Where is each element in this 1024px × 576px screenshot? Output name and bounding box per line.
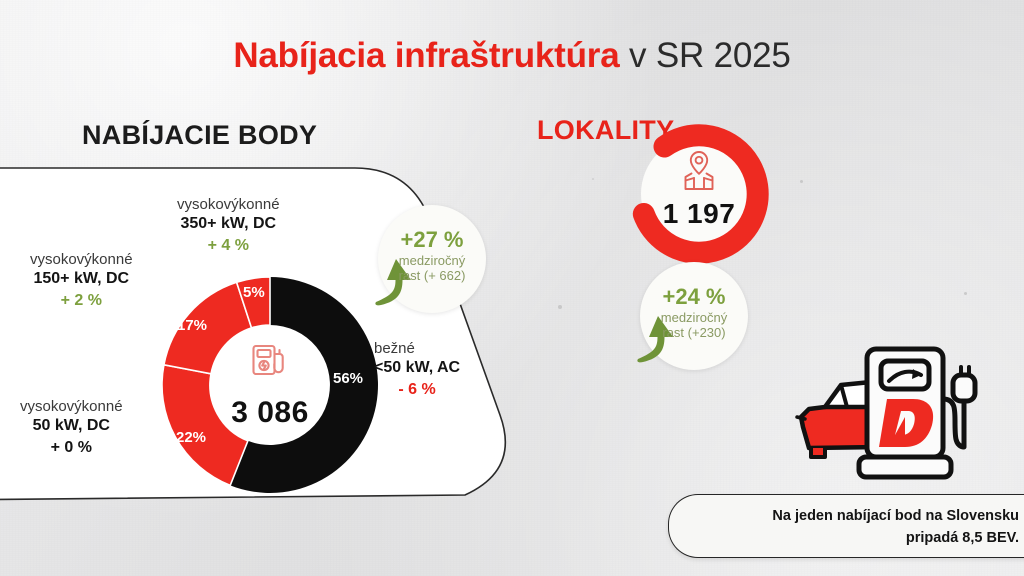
locations-ring-svg: [625, 120, 773, 268]
page-title-rest: v SR 2025: [620, 36, 791, 75]
infographic-canvas: Nabíjacia infraštruktúra v SR 2025 NABÍJ…: [0, 0, 1024, 576]
locations-growth-sub-line1: medziročný: [640, 310, 748, 325]
map-pin-person-icon: [625, 148, 773, 194]
donut-pct-3: 5%: [243, 284, 265, 301]
donut-label-50kw: vysokovýkonné 50 kW, DC + 0 %: [20, 398, 123, 459]
locations-growth-subtitle: medziročný rast (+230): [640, 310, 748, 341]
background-speck: [964, 292, 967, 295]
points-growth-sub-line2: rast (+ 662): [378, 268, 486, 283]
donut-label-ac: bežné <50 kW, AC - 6 %: [374, 340, 460, 401]
locations-growth-percent: +24 %: [640, 284, 748, 310]
donut-pct-1: 22%: [176, 429, 206, 446]
footer-caption-text: Na jeden nabíjací bod na Slovensku pripa…: [691, 506, 1019, 550]
donut-label-50kw-change: + 0 %: [20, 437, 123, 459]
points-growth-subtitle: medziročný rast (+ 662): [378, 253, 486, 284]
footer-caption-line2: pripadá 8,5 BEV.: [691, 528, 1019, 550]
footer-caption: Na jeden nabíjací bod na Slovensku pripa…: [668, 494, 1024, 558]
section-heading-charging-points: NABÍJACIE BODY: [82, 120, 317, 151]
points-growth-badge: +27 % medziročný rast (+ 662): [378, 205, 486, 313]
locations-ring-value: 1 197: [625, 198, 773, 230]
donut-label-150kw-line1: vysokovýkonné: [30, 251, 133, 269]
donut-label-ac-line2: <50 kW, AC: [374, 358, 460, 379]
donut-label-350kw: vysokovýkonné 350+ kW, DC + 4 %: [177, 196, 280, 257]
donut-label-50kw-line2: 50 kW, DC: [20, 416, 123, 437]
page-title-highlight: Nabíjacia infraštruktúra: [233, 36, 619, 75]
donut-label-350kw-line1: vysokovýkonné: [177, 196, 280, 214]
donut-label-350kw-change: + 4 %: [177, 235, 280, 257]
donut-label-150kw: vysokovýkonné 150+ kW, DC + 2 %: [30, 251, 133, 312]
donut-center-value: 3 086: [155, 396, 385, 430]
locations-ring-chart: 1 197: [625, 120, 773, 268]
footer-caption-line1: Na jeden nabíjací bod na Slovensku: [691, 506, 1019, 528]
charging-cable-icon: [943, 367, 975, 447]
points-growth-sub-line1: medziročný: [378, 253, 486, 268]
locations-growth-badge: +24 % medziročný rast (+230): [640, 262, 748, 370]
donut-pct-0: 56%: [333, 370, 363, 387]
donut-label-150kw-line2: 150+ kW, DC: [30, 269, 133, 290]
car-and-charging-station-illustration: [795, 335, 995, 485]
donut-label-50kw-line1: vysokovýkonné: [20, 398, 123, 416]
donut-label-ac-change: - 6 %: [374, 379, 460, 401]
page-title: Nabíjacia infraštruktúra v SR 2025: [0, 36, 1024, 76]
donut-label-150kw-change: + 2 %: [30, 290, 133, 312]
background-speck: [558, 305, 562, 309]
background-speck: [800, 180, 803, 183]
charging-points-donut-chart: 3 086 56% 22% 17% 5%: [155, 270, 385, 500]
points-growth-percent: +27 %: [378, 227, 486, 253]
background-speck: [592, 178, 594, 180]
locations-growth-sub-line2: rast (+230): [640, 325, 748, 340]
donut-label-350kw-line2: 350+ kW, DC: [177, 214, 280, 235]
donut-label-ac-line1: bežné: [374, 340, 460, 358]
donut-pct-2: 17%: [177, 317, 207, 334]
